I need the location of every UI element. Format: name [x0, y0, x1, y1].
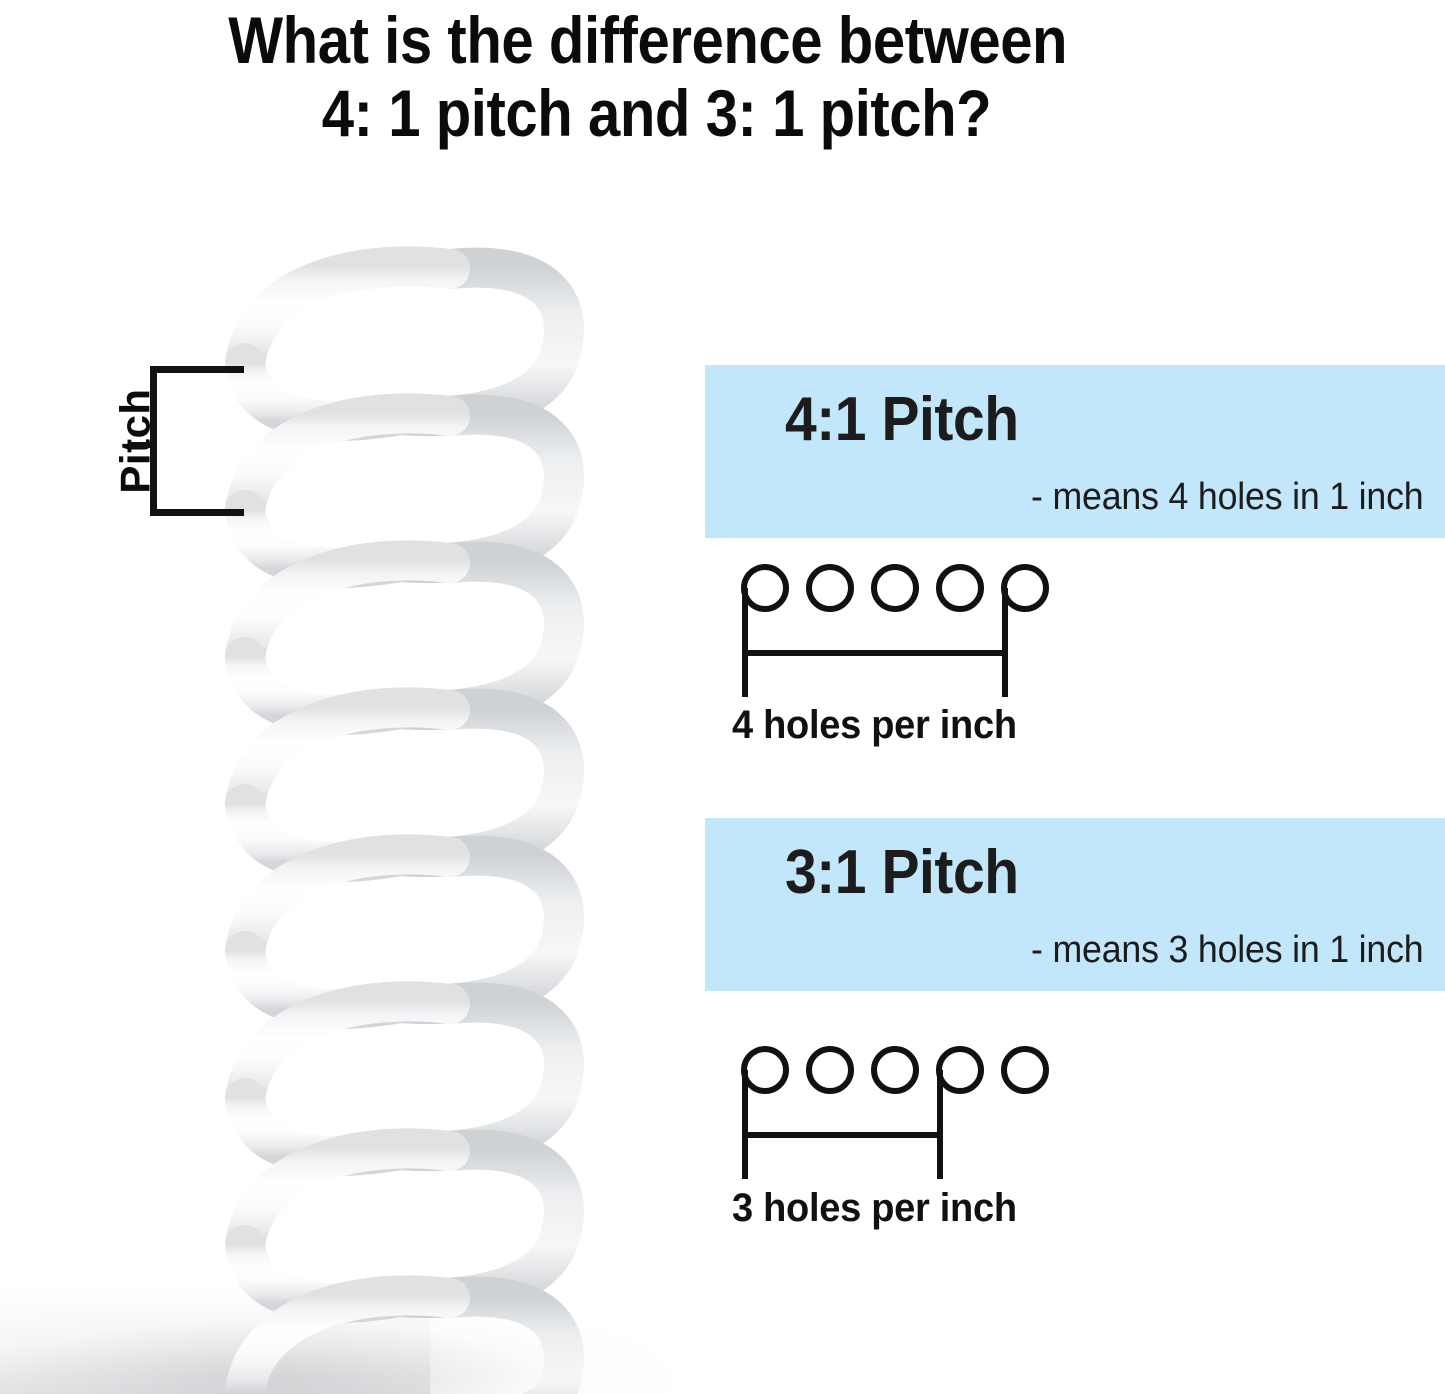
infographic-canvas: What is the difference between 4: 1 pitc…	[0, 0, 1445, 1394]
info-box-3to1-heading: 3:1 Pitch	[785, 840, 1019, 906]
hole-circle	[1004, 1049, 1046, 1091]
hole-circle	[809, 1049, 851, 1091]
hole-circle	[939, 1049, 981, 1091]
bracket-arm-bottom	[150, 509, 244, 516]
page-title: What is the difference between 4: 1 pitc…	[0, 4, 1445, 150]
hole-circle	[874, 567, 916, 609]
hole-circle	[809, 567, 851, 609]
page-title-line-2: 4: 1 pitch and 3: 1 pitch?	[87, 77, 1359, 150]
hole-circle	[874, 1049, 916, 1091]
hole-circle	[744, 567, 786, 609]
info-box-4to1-description: - means 4 holes in 1 inch	[1031, 476, 1423, 518]
page-title-line-1: What is the difference between	[87, 4, 1359, 77]
info-box-4to1-heading: 4:1 Pitch	[785, 387, 1019, 453]
hole-diagram-4to1-caption: 4 holes per inch	[732, 703, 1017, 747]
bracket-spine	[150, 366, 157, 516]
hole-circle	[939, 567, 981, 609]
info-box-3to1: 3:1 Pitch - means 3 holes in 1 inch	[705, 818, 1445, 991]
measurement-bracket	[745, 588, 1005, 697]
hole-circle	[744, 1049, 786, 1091]
bracket-center-tick	[129, 442, 156, 448]
bracket-arm-top	[150, 366, 244, 373]
info-box-4to1: 4:1 Pitch - means 4 holes in 1 inch	[705, 365, 1445, 538]
info-box-3to1-description: - means 3 holes in 1 inch	[1031, 929, 1423, 971]
hole-diagram-3to1-caption: 3 holes per inch	[732, 1186, 1017, 1230]
coil-turns	[245, 266, 564, 1394]
pitch-dimension-bracket	[129, 362, 244, 520]
hole-circle	[1004, 567, 1046, 609]
